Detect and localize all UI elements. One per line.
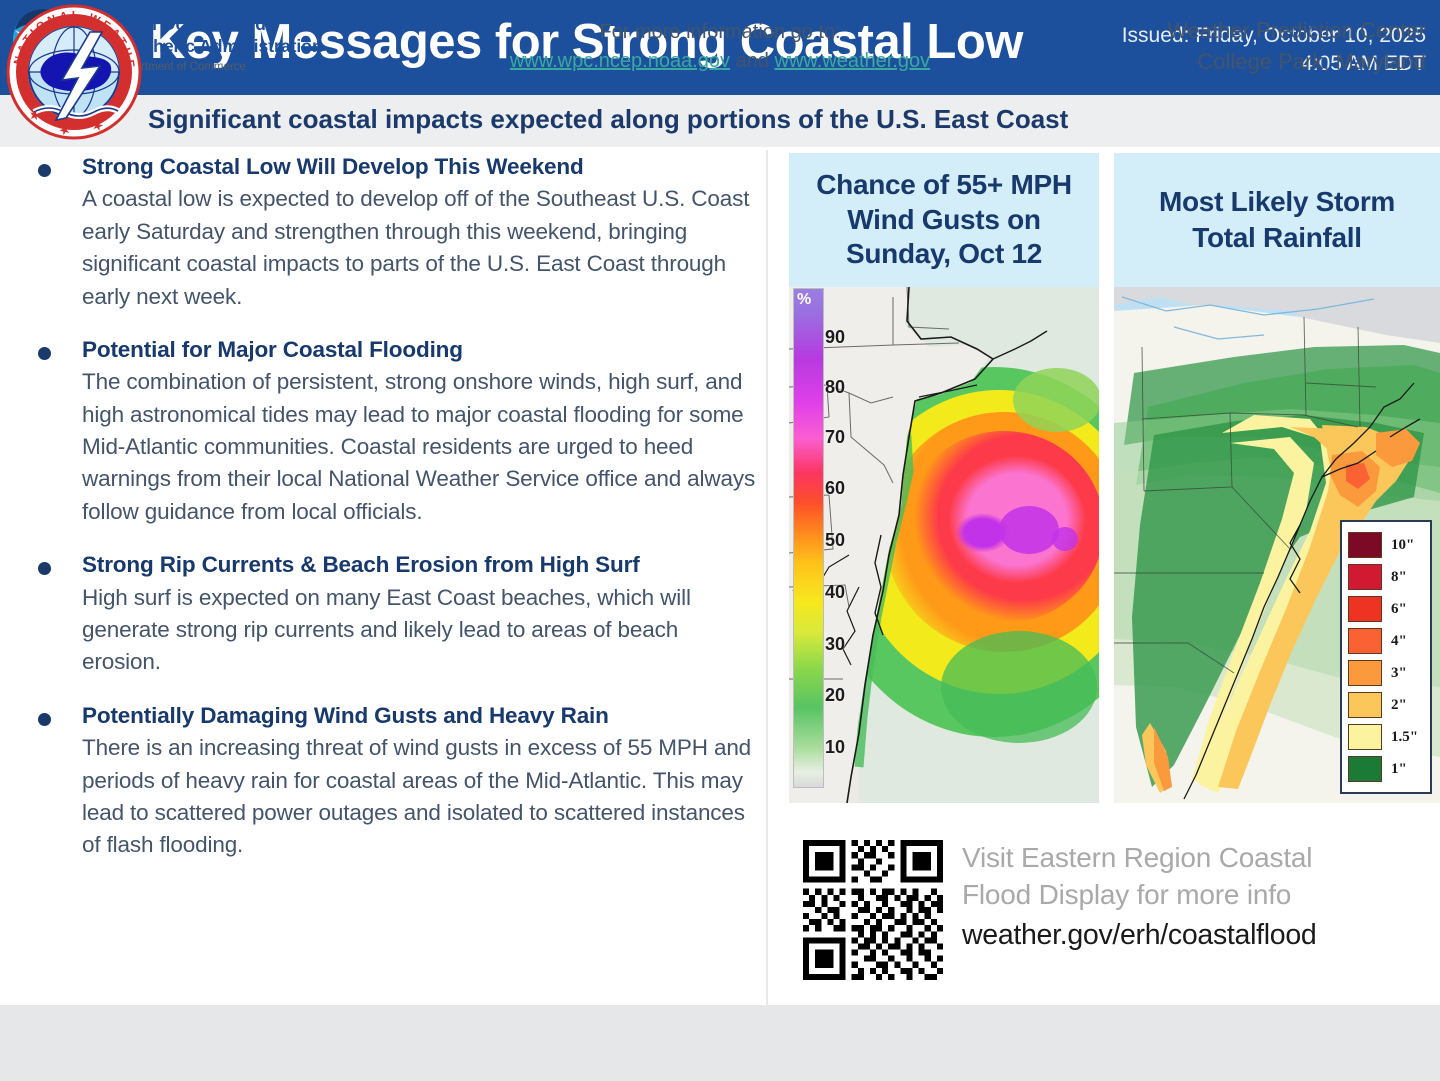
legend-item: 3"	[1348, 657, 1424, 689]
legend-swatch	[1348, 596, 1382, 622]
promo-line1: Visit Eastern Region Coastal	[962, 840, 1432, 877]
wind-panel-title-line1: Chance of 55+ MPH	[816, 168, 1072, 203]
page-footer	[0, 1005, 1440, 1081]
legend-swatch	[1348, 724, 1382, 750]
legend-label: 4"	[1391, 633, 1407, 650]
colorbar-tick-60: 60	[825, 478, 845, 499]
key-message-item: Strong Rip Currents & Beach Erosion from…	[18, 550, 760, 679]
rainfall-map: 10" 8" 6" 4" 3"	[1114, 287, 1440, 803]
colorbar-unit-label: %	[797, 291, 811, 309]
key-message-body: High surf is expected on many East Coast…	[82, 582, 760, 679]
promo-text: Visit Eastern Region Coastal Flood Displ…	[962, 840, 1432, 952]
bullet-icon	[38, 347, 51, 360]
colorbar-tick-30: 30	[825, 634, 845, 655]
colorbar-tick-90: 90	[825, 327, 845, 348]
legend-label: 1"	[1391, 761, 1407, 778]
legend-swatch	[1348, 628, 1382, 654]
rain-panel-title-line1: Most Likely Storm	[1159, 184, 1395, 220]
legend-label: 3"	[1391, 665, 1407, 682]
legend-item: 1"	[1348, 753, 1424, 785]
legend-label: 10"	[1391, 537, 1414, 554]
footer-conjunction: and	[736, 50, 769, 72]
page-subtitle: Significant coastal impacts expected alo…	[148, 104, 1068, 135]
rainfall-legend: 10" 8" 6" 4" 3"	[1340, 520, 1432, 794]
wind-gust-map: % 90 80 70 60 50 40 30 20 10	[789, 287, 1099, 803]
wind-probability-colorbar	[793, 288, 824, 788]
legend-label: 6"	[1391, 601, 1407, 618]
key-messages-list: Strong Coastal Low Will Develop This Wee…	[18, 152, 760, 1002]
legend-swatch	[1348, 564, 1382, 590]
key-message-body: The combination of persistent, strong on…	[82, 366, 760, 528]
promo-url[interactable]: weather.gov/erh/coastalflood	[962, 919, 1432, 952]
legend-item: 10"	[1348, 529, 1424, 561]
bullet-icon	[38, 562, 51, 575]
colorbar-tick-50: 50	[825, 530, 845, 551]
colorbar-tick-80: 80	[825, 377, 845, 398]
colorbar-tick-20: 20	[825, 685, 845, 706]
footer-office-line2: College Park, Maryland	[1167, 47, 1426, 78]
legend-swatch	[1348, 756, 1382, 782]
key-message-body: A coastal low is expected to develop off…	[82, 183, 760, 313]
footer-office-line1: Weather Prediction Center	[1167, 16, 1426, 47]
legend-item: 2"	[1348, 689, 1424, 721]
wind-panel-title-line3: Sunday, Oct 12	[846, 237, 1042, 272]
legend-label: 1.5"	[1391, 729, 1418, 746]
legend-label: 2"	[1391, 697, 1407, 714]
colorbar-tick-40: 40	[825, 582, 845, 603]
footer-link-weather[interactable]: www.weather.gov	[775, 50, 931, 72]
column-divider	[766, 150, 768, 1005]
key-message-heading: Strong Rip Currents & Beach Erosion from…	[82, 550, 760, 580]
colorbar-tick-10: 10	[825, 737, 845, 758]
footer-link-wpc[interactable]: www.wpc.ncep.noaa.gov	[510, 50, 730, 72]
key-message-heading: Strong Coastal Low Will Develop This Wee…	[82, 152, 760, 182]
footer-office: Weather Prediction Center College Park, …	[1167, 16, 1426, 78]
qr-code[interactable]	[793, 834, 953, 986]
key-message-body: There is an increasing threat of wind gu…	[82, 732, 760, 862]
rain-panel-title-line2: Total Rainfall	[1192, 220, 1362, 256]
wind-panel-title: Chance of 55+ MPH Wind Gusts on Sunday, …	[789, 153, 1099, 287]
legend-item: 6"	[1348, 593, 1424, 625]
bullet-icon	[38, 713, 51, 726]
key-message-heading: Potential for Major Coastal Flooding	[82, 335, 760, 365]
nws-logo: NATIONAL WEATHER SERVICE ★ ★ ★	[4, 2, 144, 142]
wind-panel-title-line2: Wind Gusts on	[847, 203, 1040, 238]
bullet-icon	[38, 164, 51, 177]
rain-panel-title: Most Likely Storm Total Rainfall	[1114, 153, 1440, 287]
key-message-item: Potentially Damaging Wind Gusts and Heav…	[18, 701, 760, 862]
key-message-item: Strong Coastal Low Will Develop This Wee…	[18, 152, 760, 313]
promo-line2: Flood Display for more info	[962, 877, 1432, 914]
key-message-heading: Potentially Damaging Wind Gusts and Heav…	[82, 701, 760, 731]
legend-item: 8"	[1348, 561, 1424, 593]
legend-item: 4"	[1348, 625, 1424, 657]
legend-swatch	[1348, 532, 1382, 558]
rainfall-panel: Most Likely Storm Total Rainfall	[1114, 153, 1440, 803]
legend-item: 1.5"	[1348, 721, 1424, 753]
colorbar-tick-70: 70	[825, 427, 845, 448]
legend-swatch	[1348, 692, 1382, 718]
legend-label: 8"	[1391, 569, 1407, 586]
key-message-item: Potential for Major Coastal Flooding The…	[18, 335, 760, 528]
wind-gust-panel: Chance of 55+ MPH Wind Gusts on Sunday, …	[789, 153, 1099, 803]
legend-swatch	[1348, 660, 1382, 686]
